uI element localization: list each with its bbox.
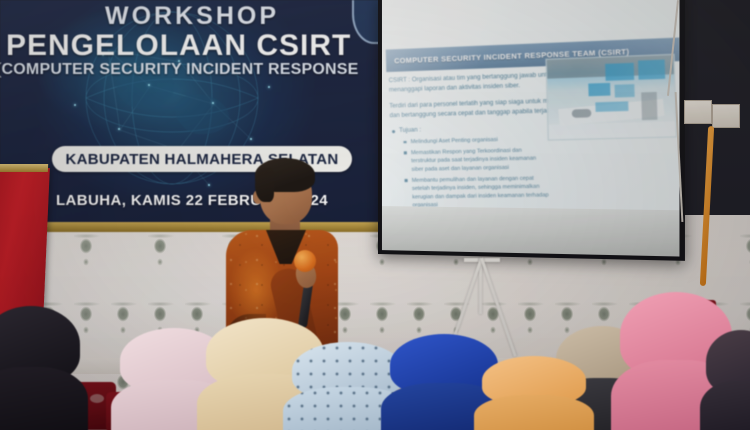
slide-inset-photo — [545, 54, 676, 141]
banner-line-workshop: WORKSHOP — [0, 2, 384, 31]
banner-line-subtitle: (COMPUTER SECURITY INCIDENT RESPONSE — [0, 61, 380, 79]
slide-sub-list: Melindungi Aset Penting organisasi Memas… — [399, 135, 549, 210]
attendee-hijab-black — [0, 306, 80, 430]
slide-sub-bullet: Membantu pemulihan dan layanan dengan ce… — [412, 174, 550, 210]
photo-scene: WORKSHOP PENGELOLAAN CSIRT (COMPUTER SEC… — [0, 0, 750, 430]
presentation-slide: COMPUTER SECURITY INCIDENT RESPONSE TEAM… — [382, 0, 680, 212]
banner-line-title: PENGELOLAAN CSIRT — [6, 29, 384, 63]
speaker-hair-side — [255, 168, 274, 202]
slide-bullet: Tujuan : Melindungi Aset Penting organis… — [399, 123, 550, 210]
attendee-hijab-orange — [482, 356, 586, 430]
slide-bullet-text: Tujuan : — [399, 128, 421, 135]
projection-screen: COMPUTER SECURITY INCIDENT RESPONSE TEAM… — [378, 0, 685, 261]
projection-screen-skirt — [382, 206, 680, 256]
microphone-windscreen-icon — [294, 250, 316, 272]
wall-socket — [684, 100, 712, 124]
slide-sub-bullet: Memastikan Respon yang Terkoordinasi dan… — [411, 146, 549, 174]
red-banner-gold-cap — [0, 164, 48, 172]
projection-screen-surface: COMPUTER SECURITY INCIDENT RESPONSE TEAM… — [382, 0, 680, 212]
attendee-hijab-dark-right — [706, 330, 750, 430]
slide-sub-bullet: Melindungi Aset Penting organisasi — [411, 135, 548, 147]
wall-socket — [712, 104, 740, 128]
